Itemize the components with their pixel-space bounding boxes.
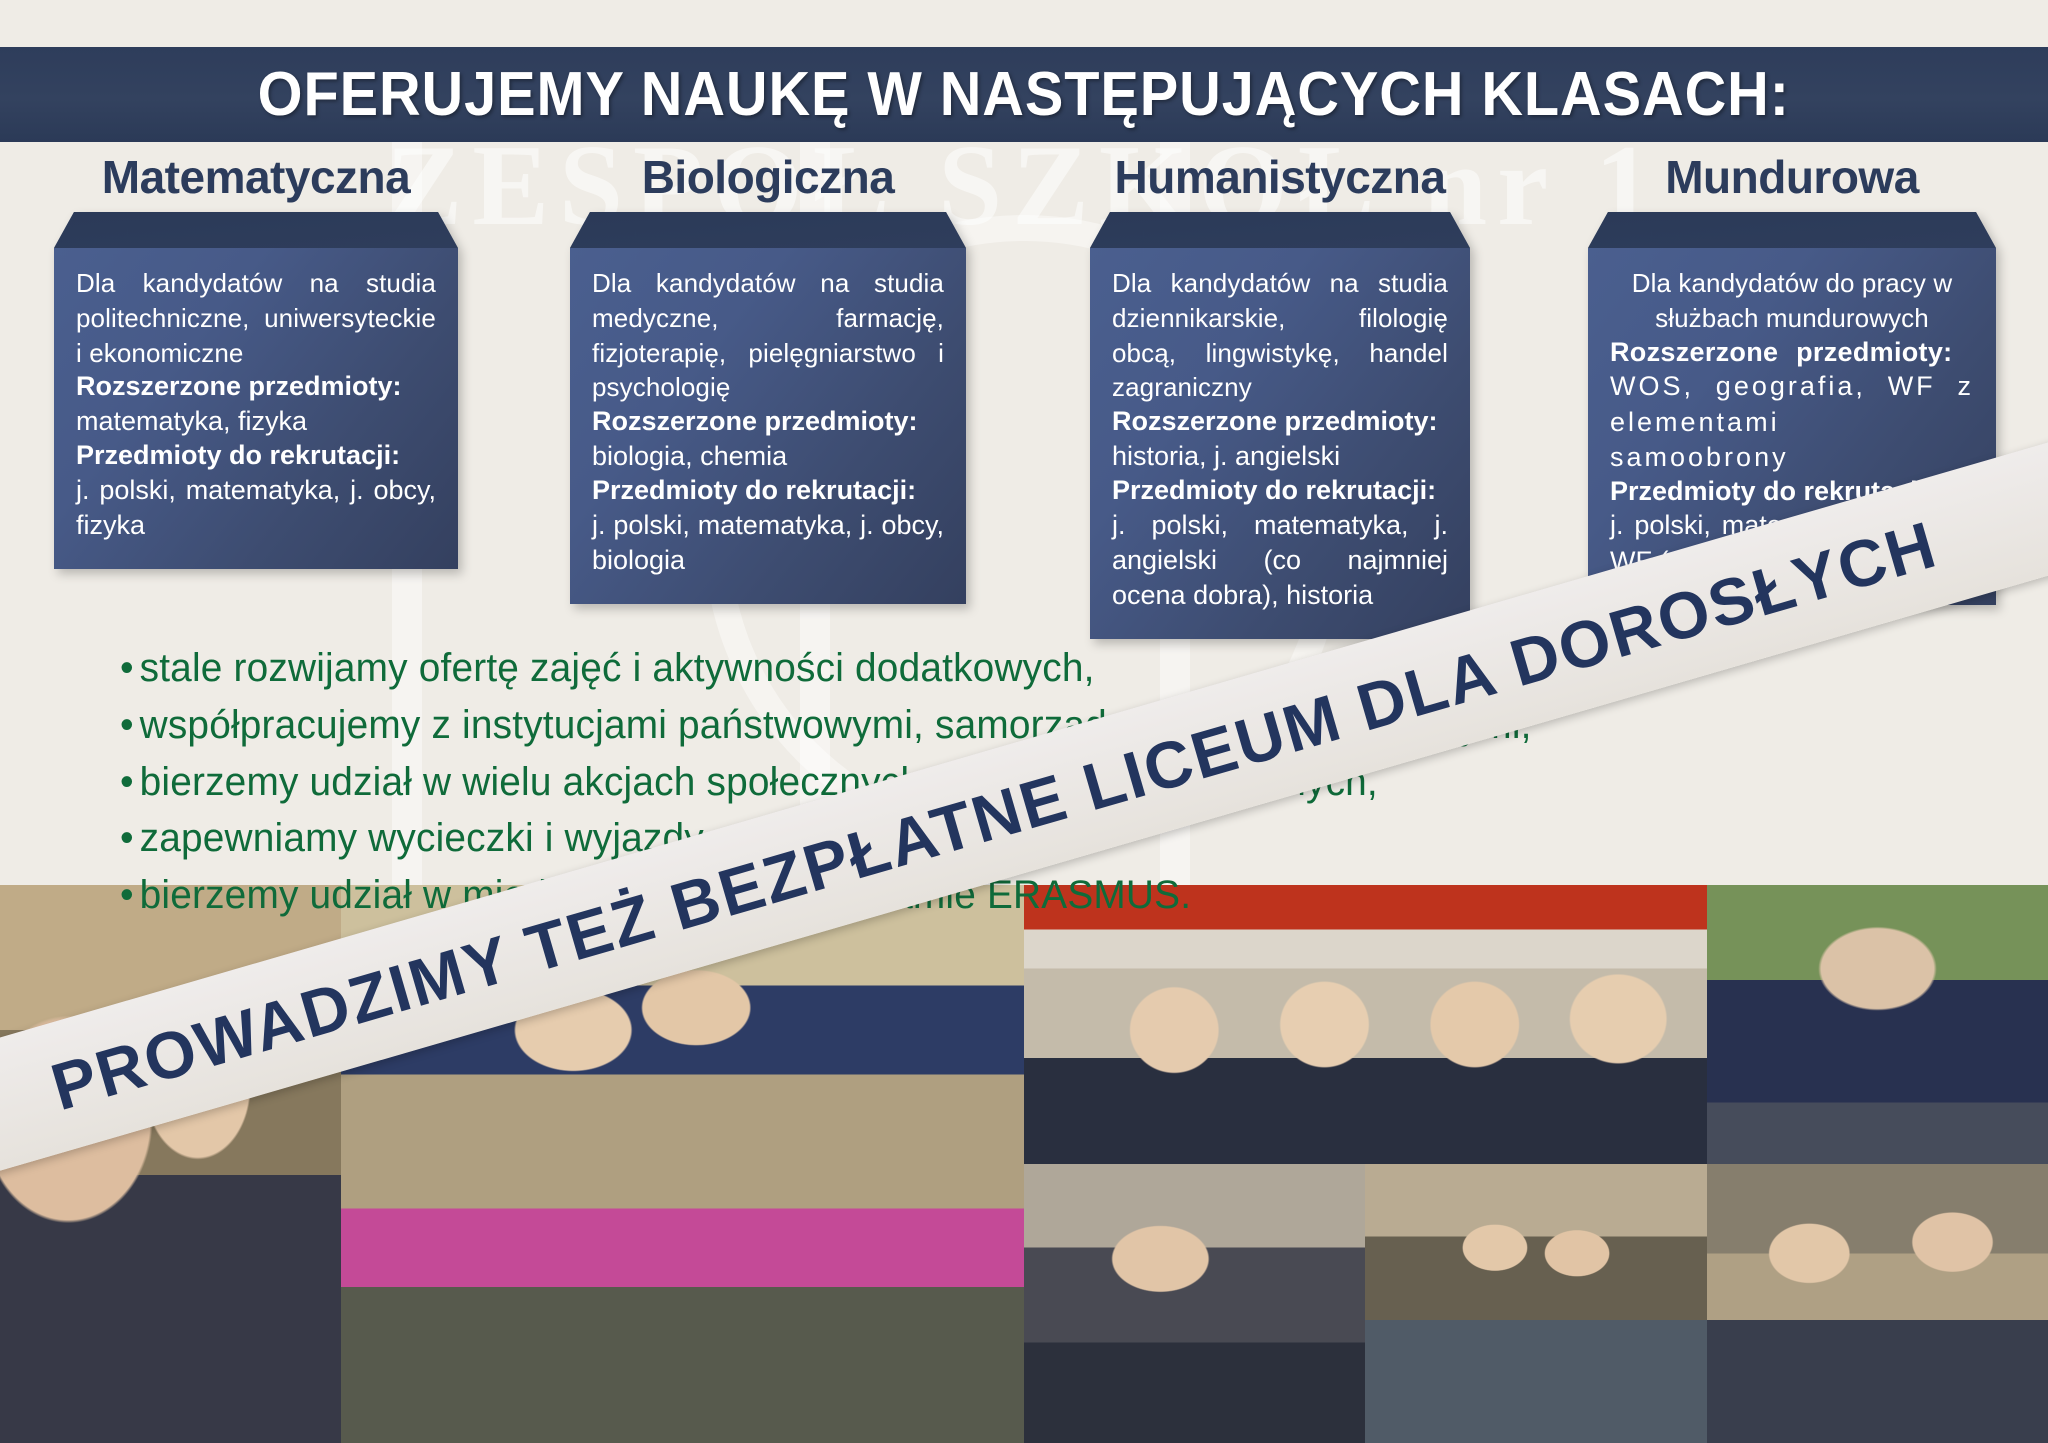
card-cap bbox=[570, 212, 966, 248]
photo-police-officer-visit bbox=[1707, 885, 2048, 1164]
class-title: Mundurowa bbox=[1665, 150, 1919, 204]
extended-subjects-label: Rozszerzone przedmioty: bbox=[76, 370, 436, 404]
bullet-marker-icon: • bbox=[120, 816, 134, 860]
class-lead: Dla kandydatów na studia politechniczne,… bbox=[76, 266, 436, 370]
extended-subjects-label: Rozszerzone przedmioty: bbox=[1112, 405, 1448, 439]
photo-christmas-classroom bbox=[1024, 1164, 1365, 1443]
list-item-label: stale rozwijamy ofertę zajęć i aktywnośc… bbox=[140, 646, 1095, 690]
class-title: Biologiczna bbox=[642, 150, 895, 204]
extended-subjects-value: WOS, geografia, WF z elementami samoobro… bbox=[1610, 369, 1974, 474]
extended-subjects-value: matematyka, fizyka bbox=[76, 404, 436, 439]
class-lead: Dla kandydatów na studia dziennikarskie,… bbox=[1112, 266, 1448, 405]
card-body: Dla kandydatów na studia dziennikarskie,… bbox=[1090, 248, 1470, 639]
photo-santa-hat-group bbox=[1024, 885, 1707, 1164]
class-title: Humanistyczna bbox=[1115, 150, 1446, 204]
class-title: Matematyczna bbox=[102, 150, 410, 204]
photo-prom-dance bbox=[1365, 1164, 1706, 1443]
class-column-matematyczna: Matematyczna Dla kandydatów na studia po… bbox=[0, 150, 512, 639]
card-body: Dla kandydatów na studia medyczne, farma… bbox=[570, 248, 966, 604]
class-column-humanistyczna: Humanistyczna Dla kandydatów na studia d… bbox=[1024, 150, 1536, 639]
card-cap bbox=[1588, 212, 1996, 248]
page-title: OFERUJEMY NAUKĘ W NASTĘPUJĄCYCH KLASACH: bbox=[258, 59, 1790, 130]
extended-subjects-label: Rozszerzone przedmioty: bbox=[1610, 336, 1974, 370]
card-body: Dla kandydatów na studia politechniczne,… bbox=[54, 248, 458, 569]
class-card[interactable]: Dla kandydatów na studia medyczne, farma… bbox=[570, 212, 966, 604]
card-cap bbox=[1090, 212, 1470, 248]
recruitment-subjects-value: j. polski, matematyka, j. obcy, biologia bbox=[592, 508, 944, 578]
recruitment-subjects-value: j. polski, matematyka, j. angielski (co … bbox=[1112, 508, 1448, 613]
class-lead: Dla kandydatów na studia medyczne, farma… bbox=[592, 266, 944, 405]
photo-chess-tournament bbox=[1707, 1164, 2048, 1443]
extended-subjects-value: biologia, chemia bbox=[592, 439, 944, 474]
extended-subjects-label: Rozszerzone przedmioty: bbox=[592, 405, 944, 439]
recruitment-subjects-label: Przedmioty do rekrutacji: bbox=[1112, 474, 1448, 508]
bullet-marker-icon: • bbox=[120, 646, 134, 690]
bullet-marker-icon: • bbox=[120, 703, 134, 747]
bullet-marker-icon: • bbox=[120, 873, 134, 917]
class-card[interactable]: Dla kandydatów na studia politechniczne,… bbox=[54, 212, 458, 569]
extended-subjects-value: historia, j. angielski bbox=[1112, 439, 1448, 474]
class-lead: Dla kandydatów do pracy w służbach mundu… bbox=[1610, 266, 1974, 336]
recruitment-subjects-label: Przedmioty do rekrutacji: bbox=[592, 474, 944, 508]
class-card[interactable]: Dla kandydatów na studia dziennikarskie,… bbox=[1090, 212, 1470, 639]
card-cap bbox=[54, 212, 458, 248]
recruitment-subjects-label: Przedmioty do rekrutacji: bbox=[76, 439, 436, 473]
poster-root: ZESPÓŁ SZKÓŁ nr 1 OFERUJEMY NAUKĘ W NAST… bbox=[0, 0, 2048, 1443]
bullet-marker-icon: • bbox=[120, 760, 134, 804]
class-column-biologiczna: Biologiczna Dla kandydatów na studia med… bbox=[512, 150, 1024, 639]
header-band: OFERUJEMY NAUKĘ W NASTĘPUJĄCYCH KLASACH: bbox=[0, 47, 2048, 142]
recruitment-subjects-value: j. polski, matematyka, j. obcy, fizyka bbox=[76, 473, 436, 543]
